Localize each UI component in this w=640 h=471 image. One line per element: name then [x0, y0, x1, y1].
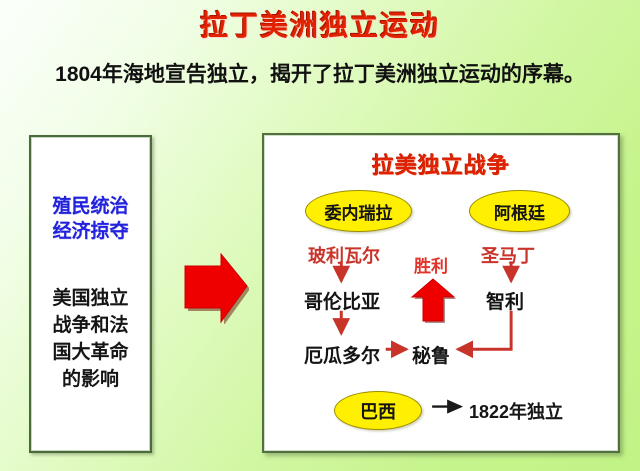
- node-brazil-label: 巴西: [360, 398, 396, 424]
- node-ecuador: 厄瓜多尔: [304, 341, 380, 368]
- node-san-martin: 圣马丁: [481, 242, 535, 268]
- node-colombia: 哥伦比亚: [304, 287, 380, 314]
- node-argentina[interactable]: 阿根廷: [469, 190, 570, 232]
- cause-colonial-rule: 殖民统治 经济掠夺: [31, 194, 150, 244]
- victory-label: 胜利: [414, 252, 448, 277]
- war-diagram-title: 拉美独立战争: [264, 148, 618, 180]
- node-venezuela-label: 委内瑞拉: [325, 199, 393, 224]
- causes-panel: 殖民统治 经济掠夺 美国独立 战争和法 国大革命 的影响: [29, 135, 152, 453]
- node-venezuela[interactable]: 委内瑞拉: [305, 190, 412, 232]
- node-brazil[interactable]: 巴西: [334, 391, 422, 430]
- cause-influence-line-2: 战争和法: [31, 312, 150, 339]
- up-arrow-icon: [410, 277, 456, 323]
- page-title: 拉丁美洲独立运动: [0, 4, 640, 44]
- cause-influence-line-4: 的影响: [31, 366, 150, 393]
- cause-influence-line-1: 美国独立: [31, 285, 150, 312]
- node-chile: 智利: [486, 287, 524, 314]
- cause-colonial-line-2: 经济掠夺: [31, 219, 150, 244]
- cause-external-influence: 美国独立 战争和法 国大革命 的影响: [31, 285, 150, 393]
- cause-influence-line-3: 国大革命: [31, 339, 150, 366]
- war-diagram-panel: 拉美独立战争 委内瑞拉 阿根廷: [262, 133, 620, 453]
- node-argentina-label: 阿根廷: [494, 199, 545, 224]
- page-subtitle: 1804年海地宣告独立，揭开了拉丁美洲独立运动的序幕。: [0, 58, 640, 88]
- node-bolivar: 玻利瓦尔: [308, 242, 380, 268]
- brazil-independence-year: 1822年独立: [469, 398, 563, 424]
- node-peru: 秘鲁: [412, 341, 450, 368]
- cause-colonial-line-1: 殖民统治: [31, 194, 150, 219]
- right-arrow-icon: [181, 252, 249, 324]
